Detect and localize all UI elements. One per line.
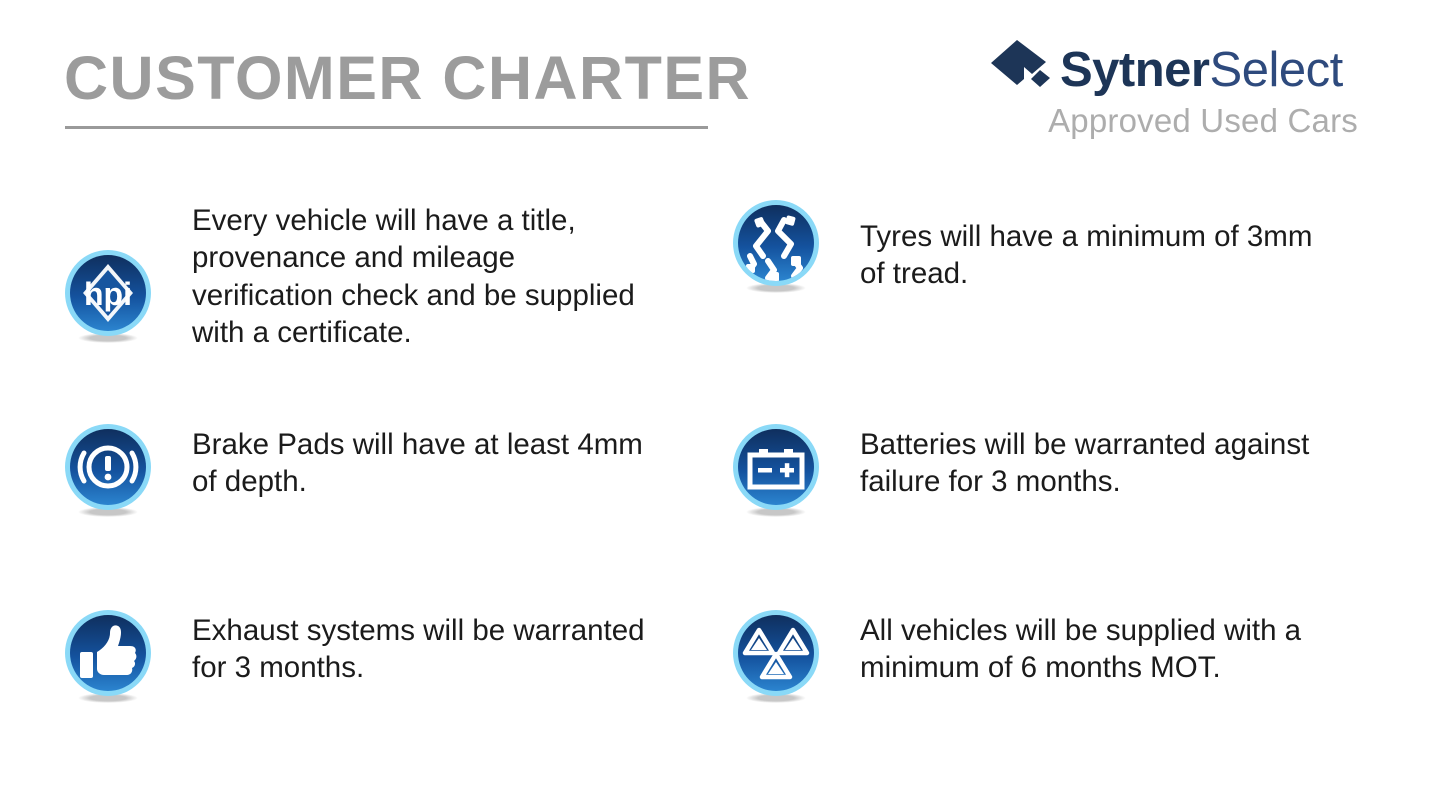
thumbs-up-icon: [60, 608, 156, 704]
charter-item: hpi Every vehicle will have a title, pro…: [60, 196, 720, 352]
logo-word-select: Select: [1210, 43, 1343, 97]
charter-item-text: Brake Pads will have at least 4mm of dep…: [192, 420, 652, 501]
charter-item-text: Every vehicle will have a title, provena…: [192, 196, 652, 352]
charter-item: Batteries will be warranted against fail…: [728, 420, 1388, 518]
logo-wordmark: SytnerSelect: [1060, 46, 1343, 95]
charter-item: Brake Pads will have at least 4mm of dep…: [60, 420, 720, 518]
title-underline-rule: [65, 126, 708, 129]
page-header: CUSTOMER CHARTER SytnerSelect Approved U…: [0, 0, 1440, 175]
sytner-diamond-icon: [988, 38, 1054, 100]
svg-text:hpi: hpi: [84, 276, 132, 312]
logo-word-sytner: Sytner: [1060, 43, 1210, 97]
brake-warning-icon: [60, 422, 156, 518]
tyre-tread-icon: [728, 198, 824, 294]
charter-item: Exhaust systems will be warranted for 3 …: [60, 606, 720, 704]
page-title: CUSTOMER CHARTER: [64, 48, 751, 109]
charter-item-text: Tyres will have a minimum of 3mm of trea…: [860, 196, 1330, 293]
charter-item: Tyres will have a minimum of 3mm of trea…: [728, 196, 1388, 294]
charter-item-text: All vehicles will be supplied with a min…: [860, 606, 1330, 687]
battery-icon: [728, 422, 824, 518]
mot-triangles-icon: [728, 608, 824, 704]
logo-row: SytnerSelect: [988, 38, 1343, 100]
logo-tagline: Approved Used Cars: [1048, 102, 1358, 140]
charter-item: All vehicles will be supplied with a min…: [728, 606, 1388, 704]
brand-logo: SytnerSelect Approved Used Cars: [988, 38, 1358, 153]
charter-grid: hpi Every vehicle will have a title, pro…: [0, 196, 1440, 756]
charter-item-text: Exhaust systems will be warranted for 3 …: [192, 606, 652, 687]
hpi-check-icon: hpi: [60, 248, 156, 344]
charter-item-text: Batteries will be warranted against fail…: [860, 420, 1330, 501]
